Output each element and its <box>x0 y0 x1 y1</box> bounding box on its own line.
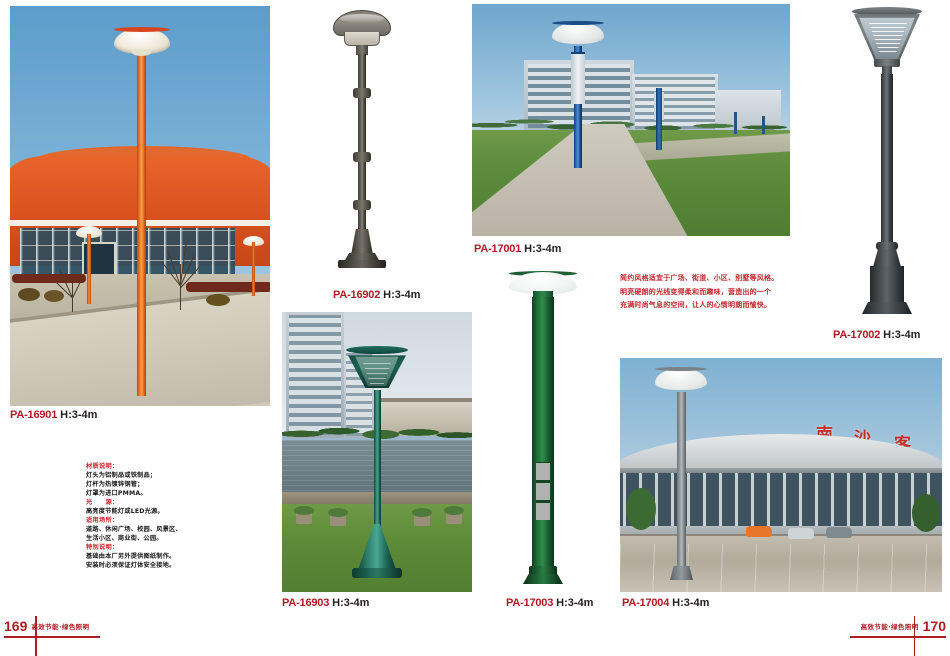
product-photo-pa-17002 <box>832 4 944 322</box>
pole-ornament <box>353 152 371 162</box>
planter-plant <box>328 508 348 517</box>
footer-left-row: 169 高效节能·绿色照明 <box>4 618 100 634</box>
lamp-dome-rim <box>114 27 170 32</box>
caption-pa-17003: PA-17003H:3-4m <box>506 598 593 609</box>
lamp-pole <box>137 54 146 396</box>
lamp-pole <box>532 297 554 569</box>
parked-car <box>826 527 852 538</box>
spec-heading-special-notes: 特别说明： <box>86 543 201 552</box>
product-code: PA-17001 <box>474 243 521 255</box>
background-post <box>734 112 737 134</box>
lamp-pole <box>881 74 893 246</box>
planter-plant <box>444 506 464 515</box>
spec-line: 安装时必须保证灯体安全接地。 <box>86 561 201 570</box>
footer-divider-right <box>914 616 916 656</box>
lamp-dome <box>655 368 707 390</box>
lamp-dome-rim <box>655 367 707 371</box>
specification-block: 材质说明： 灯头为铝制品或铁制品； 灯杆为热镀锌钢管； 灯罩为进口PMMA。 光… <box>86 462 201 570</box>
product-photo-pa-16903 <box>282 312 472 592</box>
blurb-line: 明亮硬朗的光线变得柔和而趣味，营造出的一个 <box>620 286 806 300</box>
product-height: H:3-4m <box>883 329 920 341</box>
lamp-base-plate <box>338 260 386 268</box>
lamp-base-plate <box>862 302 912 314</box>
spec-line: 灯头为铝制品或铁制品； <box>86 471 201 480</box>
lamp-dome-neck <box>132 49 151 56</box>
product-photo-pa-16902 <box>300 4 425 284</box>
spec-line: 生活小区、商业街、公园。 <box>86 534 201 543</box>
lamp-window-panel <box>536 462 550 520</box>
planter-plant <box>294 506 314 515</box>
lamp-base-body <box>870 266 904 304</box>
secondary-lamp-dome <box>640 72 678 88</box>
product-photo-pa-17003 <box>497 266 589 592</box>
spec-line: 基础由本厂另外提供图纸制作。 <box>86 552 201 561</box>
pavement-joint-lines <box>620 544 942 592</box>
product-height: H:3-4m <box>556 597 593 609</box>
product-code: PA-16902 <box>333 289 380 301</box>
spec-line: 灯杆为热镀锌钢管； <box>86 480 201 489</box>
footer-rule-right <box>850 636 946 638</box>
spec-line: 灯罩为进口PMMA。 <box>86 489 201 498</box>
pole-ornament <box>353 88 371 98</box>
caption-pa-16902: PA-16902H:3-4m <box>333 290 420 301</box>
caption-pa-17001: PA-17001H:3-4m <box>474 244 561 255</box>
spec-heading-light-source: 光 源： <box>86 498 201 507</box>
background-lamp-pole <box>252 242 255 296</box>
page-number-left: 169 <box>4 618 27 634</box>
pole-collar <box>876 242 898 250</box>
catalog-spread: PA-16901H:3-4m PA-16902H:3-4m <box>0 0 950 654</box>
background-post <box>762 116 765 134</box>
spec-line: 高亮度节能灯或LED光源。 <box>86 507 201 516</box>
product-height: H:3-4m <box>672 597 709 609</box>
lamp-base-upper <box>351 229 373 255</box>
product-code: PA-16903 <box>282 597 329 609</box>
spec-heading-applications: 适用场所： <box>86 516 201 525</box>
product-photo-pa-17001 <box>472 4 790 236</box>
caption-pa-17002: PA-17002H:3-4m <box>833 330 920 341</box>
shrub <box>206 294 230 306</box>
page-number-right: 170 <box>923 618 946 634</box>
product-code: PA-17003 <box>506 597 553 609</box>
lantern-cap <box>346 346 408 354</box>
parked-car <box>746 526 772 537</box>
lamp-diffuser <box>344 32 380 46</box>
footer-slogan-right: 高效节能·绿色照明 <box>861 621 919 631</box>
product-photo-pa-17004: 南 沙 客 <box>620 358 942 592</box>
lamp-base-plate <box>352 568 402 578</box>
tree <box>626 488 656 530</box>
tree <box>912 494 940 532</box>
product-code: PA-17002 <box>833 329 880 341</box>
lamp-base <box>670 566 693 580</box>
lamp-dome-rim <box>552 21 604 25</box>
footer-left: 169 高效节能·绿色照明 <box>4 618 100 640</box>
caption-pa-16901: PA-16901H:3-4m <box>10 410 97 421</box>
footer-right-row: 高效节能·绿色照明 170 <box>850 618 946 634</box>
lamp-pole <box>374 390 381 540</box>
lamp-base-plate <box>523 574 563 584</box>
spec-line: 道路、休闲广场、校园、风景区、 <box>86 525 201 534</box>
shrub <box>18 288 40 301</box>
product-height: H:3-4m <box>332 597 369 609</box>
blurb-line: 充满时尚气息的空间，让人的心情明朗而愉快。 <box>620 299 806 313</box>
bare-tree <box>54 256 94 314</box>
lamp-shade-highlight <box>340 14 384 23</box>
parked-car <box>788 528 814 539</box>
lamp-pole <box>677 392 686 572</box>
product-height: H:3-4m <box>60 409 97 421</box>
lamp-base-upper <box>873 249 901 267</box>
product-code: PA-16901 <box>10 409 57 421</box>
terminal-facade <box>620 473 942 529</box>
footer-slogan-left: 高效节能·绿色照明 <box>31 621 89 631</box>
lamp-dome <box>552 22 604 44</box>
lamp-tube <box>571 52 585 104</box>
secondary-lamp-pole <box>656 88 662 150</box>
product-height: H:3-4m <box>524 243 561 255</box>
bare-tree <box>158 234 204 310</box>
product-photo-pa-16901 <box>10 6 270 406</box>
footer-right: 高效节能·绿色照明 170 <box>850 618 946 640</box>
planter-plant <box>412 508 432 517</box>
product-code: PA-17004 <box>622 597 669 609</box>
footer-rule-left <box>4 636 100 638</box>
caption-pa-17004: PA-17004H:3-4m <box>622 598 709 609</box>
marketing-blurb: 简约风格适宜于广场、街道、小区、别墅等风格。 明亮硬朗的光线变得柔和而趣味，营造… <box>620 272 806 313</box>
spec-heading-material: 材质说明： <box>86 462 201 471</box>
caption-pa-16903: PA-16903H:3-4m <box>282 598 369 609</box>
pole-ornament <box>353 200 371 210</box>
product-height: H:3-4m <box>383 289 420 301</box>
footer-divider-left <box>35 616 37 656</box>
blurb-line: 简约风格适宜于广场、街道、小区、别墅等风格。 <box>620 272 806 286</box>
